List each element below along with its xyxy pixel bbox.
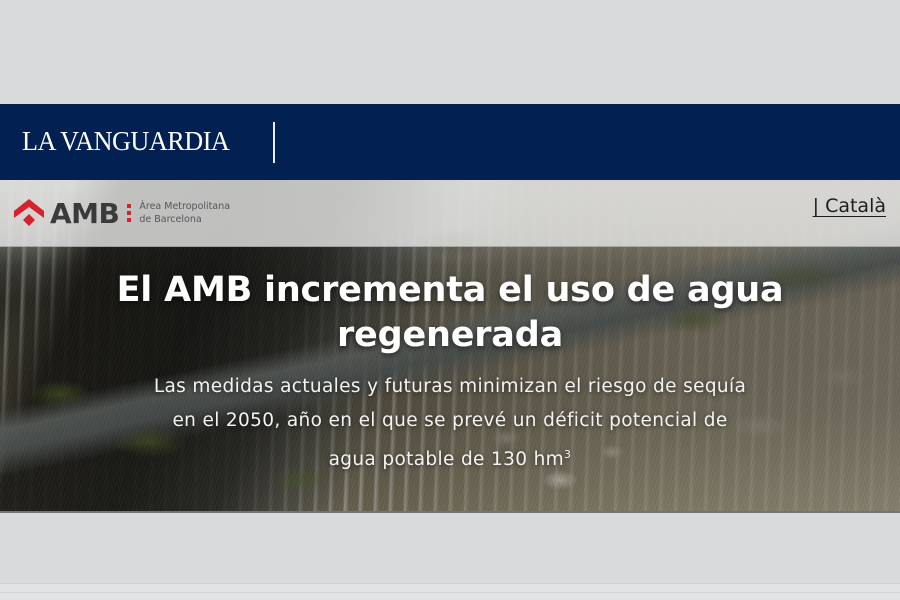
top-gutter bbox=[0, 0, 900, 104]
hero-subtitle-line-2: en el 2050, año en el que se prevé un dé… bbox=[60, 404, 840, 438]
amb-tagline-line-2: de Barcelona bbox=[139, 214, 201, 225]
language-switch-catala-link[interactable]: | Català bbox=[813, 195, 886, 217]
lavanguardia-masthead-logo[interactable]: LA VANGUARDIA bbox=[22, 126, 229, 157]
hero-headline: El AMB incrementa el uso de agua regener… bbox=[50, 268, 850, 358]
hero-subtitle-line-1: Las medidas actuales y futuras minimizan… bbox=[60, 370, 840, 404]
red-dots-separator bbox=[127, 204, 131, 222]
hero-subtitle: Las medidas actuales y futuras minimizan… bbox=[60, 370, 840, 477]
red-dot-2 bbox=[127, 211, 131, 215]
bottom-divider-rule bbox=[0, 592, 900, 593]
amb-tagline: Àrea Metropolitana de Barcelona bbox=[139, 200, 230, 226]
amb-chevron-diamond-icon bbox=[12, 196, 46, 230]
red-dot-3 bbox=[127, 218, 131, 222]
lavanguardia-header: LA VANGUARDIA bbox=[0, 104, 900, 180]
hero-subtitle-line-3-text: agua potable de 130 hm bbox=[329, 449, 564, 470]
red-dot-1 bbox=[127, 204, 131, 208]
amb-brand-text: AMB bbox=[50, 197, 119, 230]
hero-subtitle-superscript: 3 bbox=[564, 448, 571, 461]
amb-logo[interactable]: AMB Àrea Metropolitana de Barcelona bbox=[12, 192, 230, 234]
page-root: LA VANGUARDIA El AMB incrementa el uso d… bbox=[0, 0, 900, 600]
amb-tagline-line-1: Àrea Metropolitana bbox=[139, 201, 230, 212]
header-vertical-divider bbox=[273, 122, 275, 163]
below-hero-area bbox=[0, 511, 900, 583]
amb-subheader-bar: AMB Àrea Metropolitana de Barcelona | Ca… bbox=[0, 180, 900, 247]
hero-subtitle-line-3: agua potable de 130 hm3 bbox=[60, 438, 840, 477]
